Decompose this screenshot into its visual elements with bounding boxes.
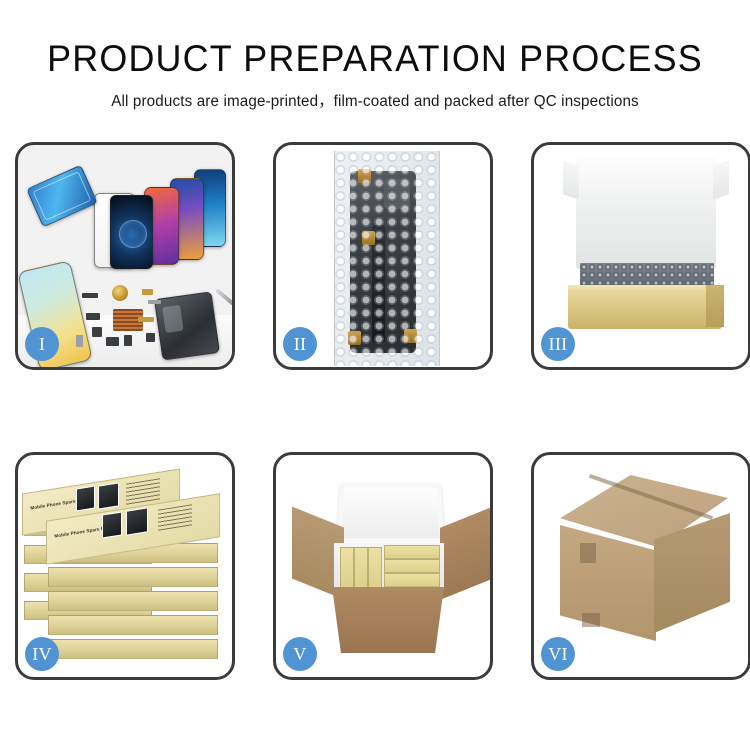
screen-protector-film — [26, 165, 98, 228]
page-header: PRODUCT PREPARATION PROCESS All products… — [0, 0, 750, 111]
step-panel-4: Mobile Phone Spare Parts Mobile Phone Sp… — [15, 452, 235, 680]
connector-top — [358, 169, 371, 183]
step-panel-3: III — [531, 142, 750, 370]
packed-box — [368, 547, 382, 589]
step-badge-2: II — [283, 327, 317, 361]
spare-part-sensor — [124, 335, 132, 346]
spare-part-sim-tray — [76, 335, 83, 347]
step-panel-5: V — [273, 452, 493, 680]
carton-tape-lower — [582, 613, 600, 627]
carton-flap-right — [440, 506, 490, 600]
step-badge-4: IV — [25, 637, 59, 671]
step-badge-3: III — [541, 327, 575, 361]
phone-back-chassis — [154, 291, 220, 360]
spare-part-module — [86, 313, 100, 320]
stacked-box — [48, 639, 218, 659]
packed-box — [340, 547, 354, 589]
spare-part-camera — [92, 327, 102, 337]
spare-part-chip — [82, 293, 98, 298]
carton-front-panel — [332, 587, 444, 653]
packed-box — [384, 559, 440, 573]
connector-bottom-left — [348, 331, 361, 345]
step-panel-1: I — [15, 142, 235, 370]
box-screen-image — [126, 507, 148, 535]
spare-part-bracket — [148, 300, 161, 304]
kraft-box-side — [706, 285, 724, 327]
spare-part-button — [106, 337, 119, 346]
spare-part-vibrator — [146, 333, 155, 342]
box-screen-image — [98, 482, 119, 509]
step-panel-2: II — [273, 142, 493, 370]
step-badge-1: I — [25, 327, 59, 361]
process-steps-grid: I II III — [15, 142, 735, 680]
carton-left-panel — [560, 525, 656, 641]
packed-box — [354, 547, 368, 589]
page-subtitle: All products are image-printed，film-coat… — [8, 79, 743, 111]
spare-part-flex-cable — [138, 317, 154, 322]
spare-part-connector — [142, 289, 153, 295]
packed-box — [384, 573, 440, 587]
carton-tape-upper — [580, 543, 596, 563]
box-screen-image — [76, 485, 95, 511]
screwdriver-tool — [215, 288, 232, 305]
speaker-coil-part — [112, 285, 128, 301]
connector-bottom-right — [404, 329, 417, 343]
packed-box — [384, 545, 440, 559]
step-badge-6: VI — [541, 637, 575, 671]
connector-middle — [362, 231, 375, 245]
phone-dark-screen — [110, 195, 153, 269]
foam-lid — [336, 483, 445, 543]
step-badge-5: V — [283, 637, 317, 671]
step-panel-6: VI — [531, 452, 750, 680]
box-screen-image — [102, 511, 122, 538]
kraft-box-front — [568, 291, 722, 329]
stacked-box — [48, 591, 218, 611]
stacked-box — [48, 567, 218, 587]
page-title: PRODUCT PREPARATION PROCESS — [11, 0, 739, 79]
white-foam-lining — [576, 157, 716, 269]
stacked-box — [48, 615, 218, 635]
